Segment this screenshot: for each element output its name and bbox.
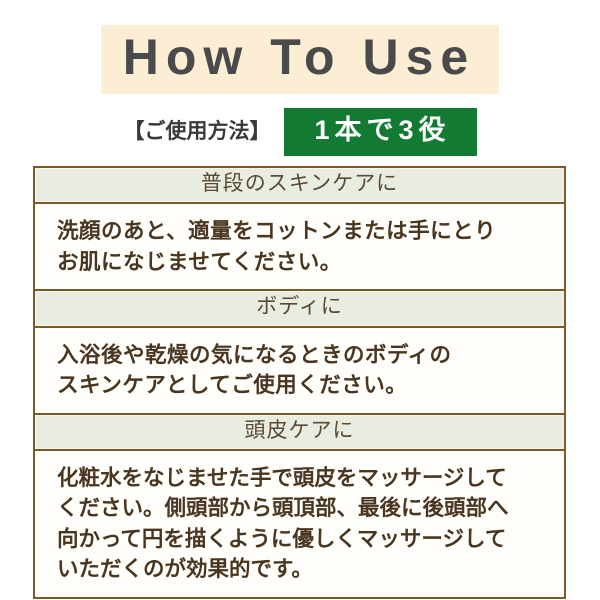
section-header-text: ボディに (256, 295, 343, 318)
body-line: いただくのが効果的です。 (57, 554, 554, 585)
section-header: ボディに (35, 289, 564, 327)
instructions-table: 普段のスキンケアに 洗顔のあと、適量をコットンまたは手にとり お肌になじませてく… (33, 166, 566, 599)
body-line: 入浴後や乾燥の気になるときのボディの (57, 340, 554, 371)
section-body-care: ボディに 入浴後や乾燥の気になるときのボディの スキンケアとしてご使用ください。 (35, 289, 564, 412)
body-line: 化粧水をなじませた手で頭皮をマッサージして (57, 463, 554, 494)
section-header-text: 普段のスキンケアに (201, 172, 398, 195)
page-title: How To Use (0, 25, 600, 94)
three-in-one-badge: 1本で3役 (284, 108, 476, 156)
body-line: ください。側頭部から頭頂部、最後に後頭部へ (57, 493, 554, 524)
title-highlight-band: How To Use (101, 25, 499, 94)
section-scalp-care: 頭皮ケアに 化粧水をなじませた手で頭皮をマッサージして ください。側頭部から頭頂… (35, 413, 564, 597)
section-header-text: 頭皮ケアに (245, 419, 355, 442)
section-body: 化粧水をなじませた手で頭皮をマッサージして ください。側頭部から頭頂部、最後に後… (35, 451, 564, 597)
how-to-use-infographic: How To Use 【ご使用方法】 1本で3役 普段のスキンケアに 洗顔のあと… (0, 0, 600, 600)
section-header: 普段のスキンケアに (35, 168, 564, 204)
body-line: 向かって円を描くように優しくマッサージして (57, 524, 554, 555)
title-text: How To Use (123, 31, 477, 84)
body-line: スキンケアとしてご使用ください。 (57, 370, 554, 401)
section-body: 洗顔のあと、適量をコットンまたは手にとり お肌になじませてください。 (35, 204, 564, 289)
body-line: 洗顔のあと、適量をコットンまたは手にとり (57, 216, 554, 247)
section-body: 入浴後や乾燥の気になるときのボディの スキンケアとしてご使用ください。 (35, 328, 564, 413)
usage-method-label: 【ご使用方法】 (123, 121, 270, 142)
body-line: お肌になじませてください。 (57, 247, 554, 278)
section-header: 頭皮ケアに (35, 413, 564, 451)
section-daily-skincare: 普段のスキンケアに 洗顔のあと、適量をコットンまたは手にとり お肌になじませてく… (35, 168, 564, 289)
usage-badge-row: 【ご使用方法】 1本で3役 (0, 108, 600, 156)
